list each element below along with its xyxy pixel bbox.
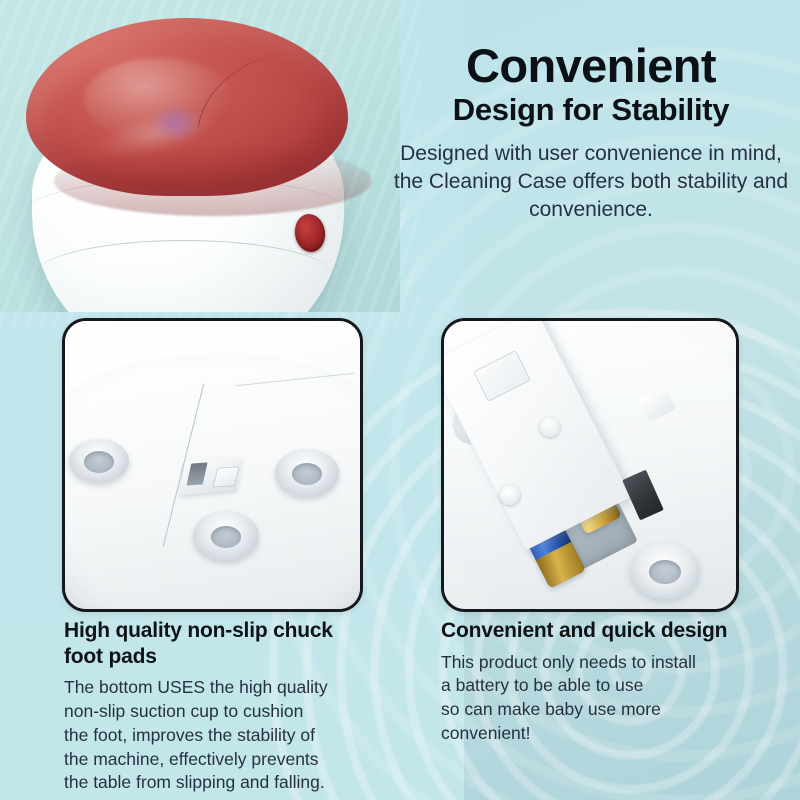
caption-title: High quality non-slip chuck foot pads: [64, 618, 364, 669]
feature-photo-panel-battery: [441, 318, 739, 612]
caption-block-foot-pads: High quality non-slip chuck foot pads Th…: [64, 618, 364, 795]
suction-cup-foot-pad: [630, 543, 700, 599]
infographic-page: Convenient Design for Stability Designed…: [0, 0, 800, 800]
hero-product-photo: [0, 0, 400, 312]
caption-block-battery: Convenient and quick design This product…: [441, 618, 741, 746]
foot-pads-photo: [65, 321, 360, 609]
header-block: Convenient Design for Stability Designed…: [388, 42, 794, 224]
suction-cup-foot-pad: [275, 449, 339, 497]
battery-contact-spring: [540, 417, 560, 437]
caption-body: The bottom USES the high quality non-sli…: [64, 676, 364, 795]
lid-bottom-rim-shadow: [54, 146, 372, 216]
suction-cup-foot-pad: [193, 511, 259, 561]
caption-title: Convenient and quick design: [441, 618, 741, 644]
battery-compartment-photo: [444, 321, 736, 609]
page-title: Convenient: [388, 42, 794, 89]
caption-body: This product only needs to install a bat…: [441, 651, 741, 746]
feature-photo-panel-foot-pads: [62, 318, 363, 612]
header-description: Designed with user convenience in mind, …: [388, 140, 794, 223]
page-subtitle: Design for Stability: [388, 93, 794, 126]
battery-contact-spring: [500, 485, 520, 505]
lid-purple-reflection: [152, 106, 198, 140]
suction-cup-foot-pad: [69, 439, 129, 483]
